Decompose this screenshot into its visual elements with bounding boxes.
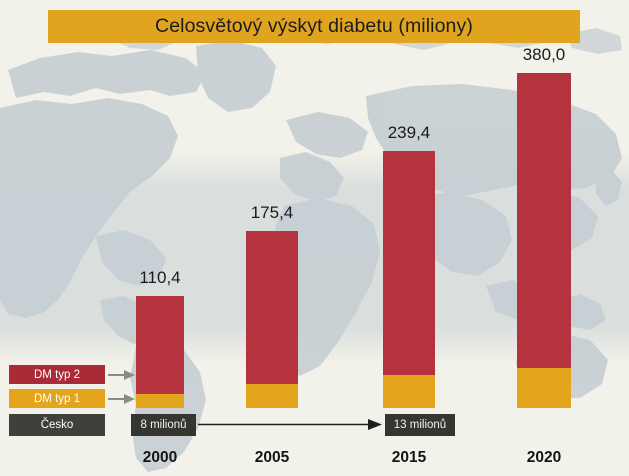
bar-2005[interactable] (246, 231, 298, 408)
bar-segment-dm2-2020 (517, 73, 571, 408)
bar-value-label-2015: 239,4 (369, 123, 449, 143)
bar-value-label-2005: 175,4 (232, 203, 312, 223)
legend-label-dm2: DM typ 2 (34, 369, 80, 381)
x-axis-label-2020: 2020 (504, 449, 584, 467)
bar-2000[interactable] (136, 296, 184, 408)
x-axis-label-2015: 2015 (369, 449, 449, 467)
bar-segment-dm2-2015 (383, 151, 435, 408)
bar-value-label-2000: 110,4 (120, 268, 200, 288)
bar-segment-dm2-2005 (246, 231, 298, 408)
bar-segment-dm1-2020 (517, 368, 571, 408)
bar-segment-dm2-2000 (136, 296, 184, 408)
legend-arrow-dm1-icon (108, 392, 136, 406)
bar-value-label-2020: 380,0 (504, 45, 584, 65)
infographic-canvas: Celosvětový výskyt diabetu (miliony) 110… (0, 0, 629, 476)
legend-label-cesko: Česko (41, 419, 74, 431)
callout-badge-start[interactable]: 8 milionů (131, 414, 196, 436)
legend-item-cesko[interactable]: Česko (9, 414, 105, 436)
callout-end-label: 13 milionů (394, 419, 446, 431)
callout-start-label: 8 milionů (140, 419, 186, 431)
callout-badge-end[interactable]: 13 milionů (385, 414, 455, 436)
bar-2015[interactable] (383, 151, 435, 408)
bar-segment-dm1-2005 (246, 384, 298, 408)
legend-arrow-dm2-icon (108, 368, 136, 382)
x-axis-label-2000: 2000 (120, 449, 200, 467)
legend-item-dm1[interactable]: DM typ 1 (9, 389, 105, 408)
bar-2020[interactable] (517, 73, 571, 408)
bar-segment-dm1-2000 (136, 394, 184, 408)
legend-item-dm2[interactable]: DM typ 2 (9, 365, 105, 384)
x-axis-label-2005: 2005 (232, 449, 312, 467)
callout-connector-arrow-icon (198, 416, 384, 434)
bar-segment-dm1-2015 (383, 375, 435, 408)
legend-label-dm1: DM typ 1 (34, 393, 80, 405)
